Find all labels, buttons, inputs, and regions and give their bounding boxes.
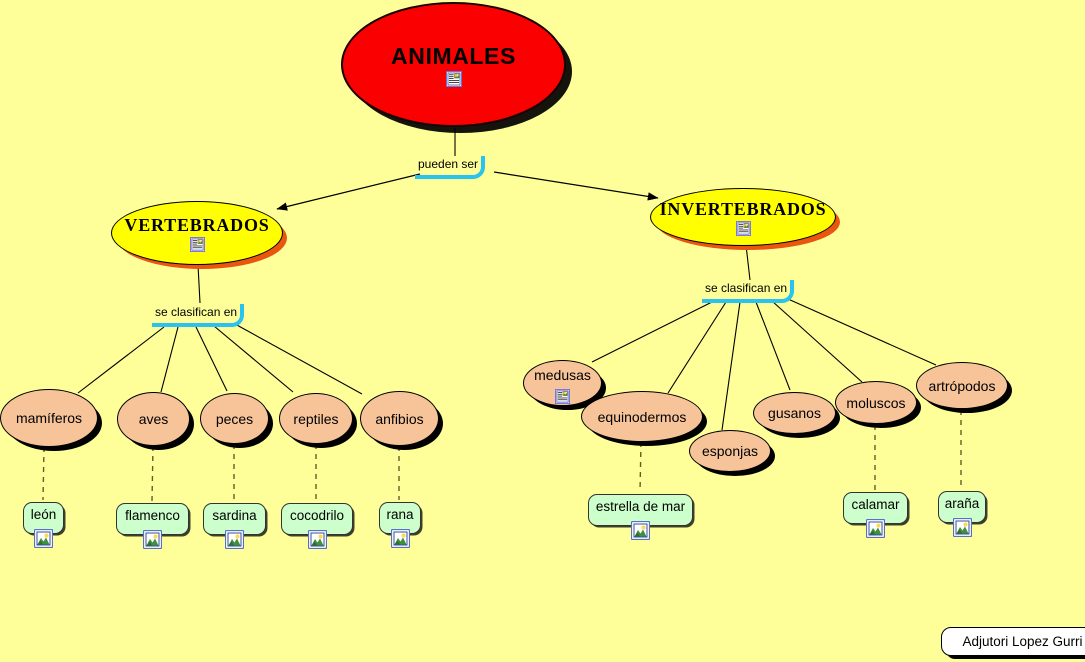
- node-reptiles[interactable]: reptiles: [279, 393, 353, 444]
- image-icon[interactable]: [34, 529, 53, 548]
- document-icon[interactable]: [736, 221, 751, 236]
- node-gusanos[interactable]: gusanos: [753, 392, 836, 434]
- node-aves[interactable]: aves: [117, 392, 190, 446]
- node-vertebrados[interactable]: VERTEBRADOS: [111, 201, 283, 265]
- node-medusas-label: medusas: [534, 367, 591, 383]
- node-esponjas[interactable]: esponjas: [689, 430, 771, 472]
- link-label-se-clasifican-en-vertebrados-text: se clasifican en: [155, 305, 237, 319]
- node-peces[interactable]: peces: [200, 393, 269, 444]
- link-label-pueden-ser-text: pueden ser: [418, 157, 478, 171]
- node-artropodos-label: artrópodos: [929, 378, 996, 394]
- image-icon[interactable]: [143, 530, 162, 549]
- node-moluscos[interactable]: moluscos: [835, 381, 917, 424]
- node-medusas[interactable]: medusas: [523, 360, 602, 406]
- node-equinodermos-label: equinodermos: [598, 409, 687, 425]
- image-icon[interactable]: [391, 529, 410, 548]
- author-badge[interactable]: Adjutori Lopez Gurri: [941, 627, 1085, 656]
- link-label-se-clasifican-en-invertebrados[interactable]: se clasifican en: [702, 280, 794, 303]
- document-icon[interactable]: [446, 71, 462, 87]
- author-badge-label: Adjutori Lopez Gurri: [962, 634, 1082, 649]
- leaf-sardina[interactable]: sardina: [203, 503, 266, 535]
- image-icon[interactable]: [225, 530, 244, 549]
- node-aves-label: aves: [139, 411, 169, 427]
- node-moluscos-label: moluscos: [846, 395, 905, 411]
- image-icon[interactable]: [953, 518, 972, 537]
- leaf-calamar[interactable]: calamar: [843, 492, 908, 524]
- leaf-flamenco-label: flamenco: [125, 508, 180, 523]
- link-label-se-clasifican-en-vertebrados[interactable]: se clasifican en: [152, 304, 244, 327]
- node-peces-label: peces: [216, 411, 253, 427]
- leaf-flamenco[interactable]: flamenco: [116, 503, 189, 535]
- node-mamiferos-label: mamíferos: [16, 410, 82, 426]
- document-icon[interactable]: [555, 389, 570, 404]
- leaf-cocodrilo[interactable]: cocodrilo: [281, 503, 353, 535]
- link-label-pueden-ser[interactable]: pueden ser: [415, 156, 485, 179]
- leaf-leon[interactable]: león: [23, 502, 64, 534]
- leaf-arana[interactable]: araña: [938, 491, 986, 523]
- image-icon[interactable]: [631, 521, 650, 540]
- link-label-se-clasifican-en-invertebrados-text: se clasifican en: [705, 281, 787, 295]
- node-invertebrados[interactable]: INVERTEBRADOS: [650, 188, 836, 246]
- leaf-rana-label: rana: [386, 507, 413, 522]
- leaf-calamar-label: calamar: [851, 497, 899, 512]
- node-animales[interactable]: ANIMALES: [341, 2, 566, 127]
- document-icon[interactable]: [190, 237, 205, 252]
- leaf-sardina-label: sardina: [212, 508, 256, 523]
- node-equinodermos[interactable]: equinodermos: [581, 391, 703, 442]
- node-reptiles-label: reptiles: [293, 411, 338, 427]
- leaf-cocodrilo-label: cocodrilo: [290, 508, 344, 523]
- node-anfibios-label: anfibios: [375, 411, 423, 427]
- node-anfibios[interactable]: anfibios: [360, 391, 439, 446]
- node-invertebrados-label: INVERTEBRADOS: [660, 199, 827, 220]
- node-animales-label: ANIMALES: [391, 43, 516, 70]
- image-icon[interactable]: [308, 530, 327, 549]
- node-vertebrados-label: VERTEBRADOS: [124, 215, 269, 236]
- leaf-arana-label: araña: [945, 496, 980, 511]
- node-mamiferos[interactable]: mamíferos: [0, 389, 98, 447]
- node-gusanos-label: gusanos: [768, 405, 821, 421]
- node-artropodos[interactable]: artrópodos: [916, 362, 1008, 409]
- leaf-estrella-de-mar[interactable]: estrella de mar: [588, 494, 693, 526]
- leaf-estrella-de-mar-label: estrella de mar: [596, 499, 685, 514]
- node-esponjas-label: esponjas: [702, 443, 758, 459]
- image-icon[interactable]: [866, 519, 885, 538]
- concept-map-canvas: ANIMALES pueden ser VERTEBRADOS: [0, 0, 1085, 662]
- leaf-rana[interactable]: rana: [379, 502, 421, 534]
- leaf-leon-label: león: [31, 507, 57, 522]
